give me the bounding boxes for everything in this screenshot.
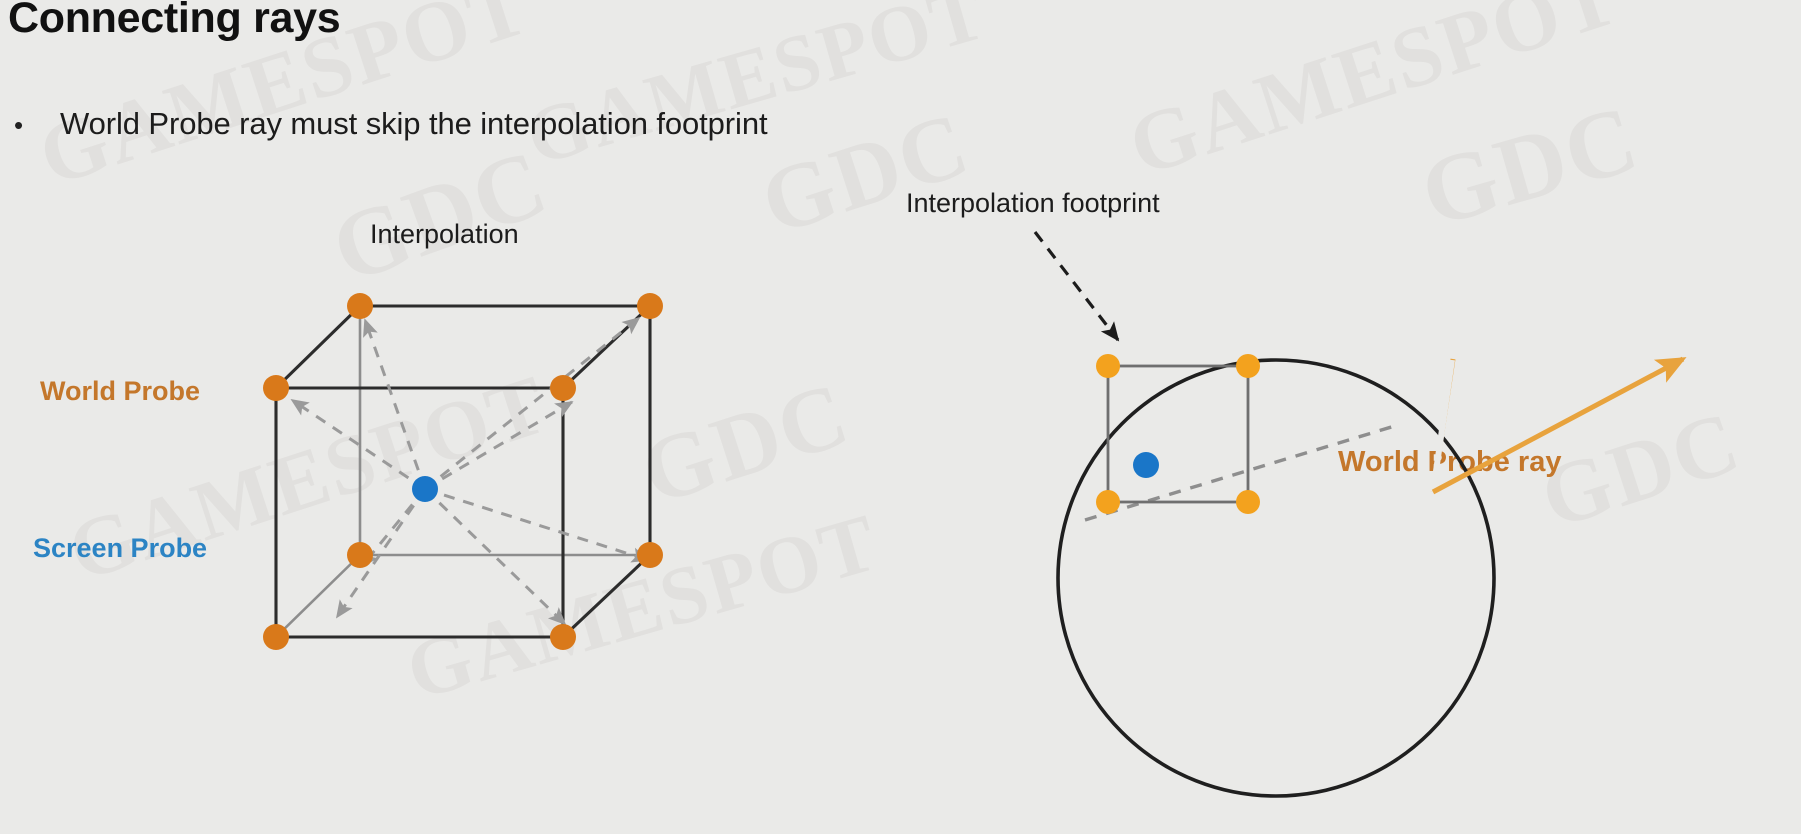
world-probe-node [1096,490,1120,514]
footprint-square [1108,366,1248,502]
world-probe-node [1236,354,1260,378]
slide-canvas: GAMESPOTGDCGAMESPOTGDCGAMESPOTGDCGAMESPO… [0,0,1801,834]
world-probe-node [1236,490,1260,514]
footprint-leader-arrow [1035,232,1118,340]
world-probe-ray-stroke [1433,359,1683,492]
world-probe-node [1096,354,1120,378]
world-probe-ray-main [1433,360,1452,492]
probe-influence-circle [1058,360,1494,796]
footprint-diagram [0,0,1801,834]
screen-probe-node [1133,452,1159,478]
